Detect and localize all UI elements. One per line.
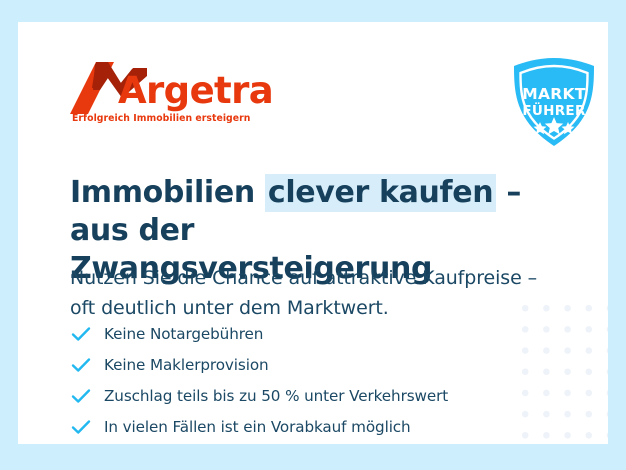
check-icon [70,323,92,345]
argetra-logo[interactable]: Argetra Erfolgreich Immobilien ersteiger… [70,62,260,130]
benefits-list: Keine Notargebühren Keine Maklerprovisio… [70,319,520,443]
headline-highlight: clever kaufen [265,174,496,212]
subheadline-line2: oft deutlich unter dem Marktwert. [70,297,389,319]
list-item: Keine Notargebühren [70,319,520,348]
benefit-label: Keine Notargebühren [104,325,263,343]
dot-grid-pattern [522,305,608,444]
check-icon [70,354,92,376]
market-leader-badge: MARKT FÜHRER [508,55,600,149]
badge-line2: FÜHRER [522,101,586,119]
logo-tagline: Erfolgreich Immobilien ersteigern [72,113,250,124]
check-icon [70,385,92,407]
list-item: Keine Maklerprovision [70,350,520,379]
subheadline-line1: Nutzen Sie die Chance auf attraktive Kau… [70,267,537,289]
benefit-label: In vielen Fällen ist ein Vorabkauf mögli… [104,418,411,436]
logo-wordmark: Argetra [118,72,273,109]
ad-card: Argetra Erfolgreich Immobilien ersteiger… [18,22,608,444]
list-item: Zuschlag teils bis zu 50 % unter Verkehr… [70,381,520,410]
ad-banner: Argetra Erfolgreich Immobilien ersteiger… [0,0,626,470]
check-icon [70,416,92,438]
subheadline: Nutzen Sie die Chance auf attraktive Kau… [70,263,540,323]
list-item: In vielen Fällen ist ein Vorabkauf mögli… [70,412,520,441]
headline-line1-before: Immobilien [70,175,265,210]
headline-line1-after: – [496,175,521,210]
badge-line1: MARKT [522,85,586,103]
benefit-label: Keine Maklerprovision [104,356,269,374]
benefit-label: Zuschlag teils bis zu 50 % unter Verkehr… [104,387,448,405]
